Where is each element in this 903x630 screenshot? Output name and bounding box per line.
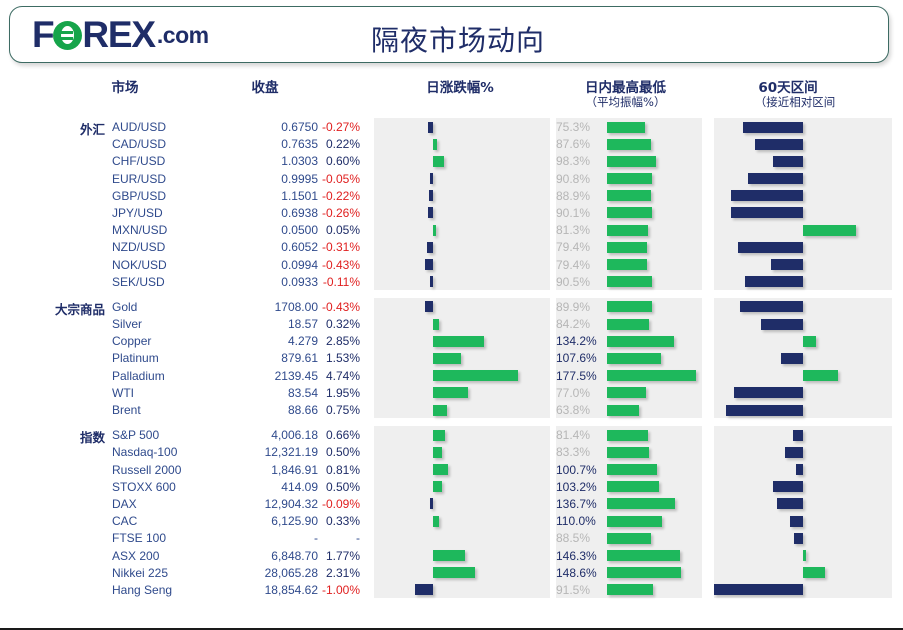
daily-change-percent: 2.85% — [300, 334, 360, 348]
daily-change-percent: -0.43% — [300, 300, 360, 314]
table-row: ASX 2006,848.701.77%146.3% — [0, 547, 903, 564]
intraday-range-bar — [607, 225, 648, 236]
instrument-name: ASX 200 — [112, 549, 159, 563]
intraday-range-percent: 77.0% — [556, 386, 603, 400]
daily-change-bar — [433, 567, 475, 578]
intraday-range-percent: 83.3% — [556, 445, 603, 459]
column-headers: 市场 收盘 日涨跌幅% 日内最高最低 （平均振幅%） 60天区间 （接近相对区间 — [0, 70, 903, 118]
intraday-range-bar — [607, 430, 648, 441]
column-header-market: 市场 — [80, 76, 170, 96]
intraday-range-bar — [607, 190, 651, 201]
intraday-range-bar — [607, 447, 649, 458]
daily-change-percent: 0.50% — [300, 445, 360, 459]
table-row: 外汇AUD/USD0.6750-0.27%75.3% — [0, 118, 903, 135]
intraday-range-bar — [607, 387, 646, 398]
table-row: STOXX 600414.090.50%103.2% — [0, 478, 903, 495]
daily-change-percent: -0.26% — [300, 206, 360, 220]
intraday-range-percent: 90.5% — [556, 275, 603, 289]
intraday-range-bar — [607, 139, 651, 150]
instrument-name: AUD/USD — [112, 120, 166, 134]
intraday-range-percent: 148.6% — [556, 566, 603, 580]
range60-bar — [785, 447, 803, 458]
range60-bar — [796, 464, 803, 475]
daily-change-percent: -0.31% — [300, 240, 360, 254]
market-table: 外汇AUD/USD0.6750-0.27%75.3%CAD/USD0.76350… — [0, 118, 903, 630]
intraday-range-bar — [607, 464, 657, 475]
daily-change-bar — [433, 139, 437, 150]
daily-change-bar — [433, 550, 465, 561]
intraday-range-bar — [607, 353, 661, 364]
daily-change-percent: 0.60% — [300, 154, 360, 168]
daily-change-percent: 0.50% — [300, 480, 360, 494]
range60-bar — [803, 225, 856, 236]
daily-change-bar — [433, 336, 484, 347]
column-header-range60-sub: （接近相对区间 — [705, 94, 885, 110]
range60-bar — [738, 242, 803, 253]
daily-change-percent: 4.74% — [300, 369, 360, 383]
instrument-name: Nikkei 225 — [112, 566, 168, 580]
range60-bar — [745, 276, 803, 287]
euro-circle-icon — [53, 21, 82, 50]
range60-bar — [755, 139, 803, 150]
range60-bar — [793, 430, 803, 441]
table-row: Palladium2139.454.74%177.5% — [0, 367, 903, 384]
table-row: Copper4.2792.85%134.2% — [0, 332, 903, 349]
intraday-range-percent: 87.6% — [556, 137, 603, 151]
intraday-range-percent: 81.3% — [556, 223, 603, 237]
range60-bar — [743, 122, 803, 133]
intraday-range-bar — [607, 516, 662, 527]
daily-change-bar — [429, 190, 433, 201]
daily-change-bar — [433, 319, 439, 330]
intraday-range-bar — [607, 156, 656, 167]
table-row: Silver18.570.32%84.2% — [0, 315, 903, 332]
daily-change-bar — [433, 225, 436, 236]
instrument-name: Silver — [112, 317, 142, 331]
instrument-name: NOK/USD — [112, 258, 167, 272]
daily-change-percent: -0.43% — [300, 258, 360, 272]
range60-bar — [790, 516, 803, 527]
table-row: NOK/USD0.0994-0.43%79.4% — [0, 256, 903, 273]
daily-change-percent: 2.31% — [300, 566, 360, 580]
intraday-range-bar — [607, 319, 649, 330]
daily-change-bar — [430, 173, 433, 184]
daily-change-percent: - — [300, 531, 360, 545]
intraday-range-percent: 177.5% — [556, 369, 603, 383]
daily-change-percent: 0.05% — [300, 223, 360, 237]
intraday-range-percent: 136.7% — [556, 497, 603, 511]
intraday-range-bar — [607, 370, 696, 381]
daily-change-bar — [425, 301, 433, 312]
range60-bar — [794, 533, 803, 544]
intraday-range-bar — [607, 533, 651, 544]
instrument-name: NZD/USD — [112, 240, 165, 254]
daily-change-percent: -0.27% — [300, 120, 360, 134]
daily-change-percent: 0.81% — [300, 463, 360, 477]
intraday-range-percent: 98.3% — [556, 154, 603, 168]
range60-bar — [803, 567, 825, 578]
daily-change-percent: -0.22% — [300, 189, 360, 203]
column-header-close: 收盘 — [215, 76, 315, 96]
intraday-range-bar — [607, 173, 652, 184]
daily-change-bar — [433, 430, 445, 441]
intraday-range-bar — [607, 481, 659, 492]
intraday-range-bar — [607, 122, 645, 133]
daily-change-percent: 0.33% — [300, 514, 360, 528]
range60-bar — [714, 584, 803, 595]
intraday-range-bar — [607, 276, 652, 287]
table-row: 指数S&P 5004,006.180.66%81.4% — [0, 426, 903, 443]
table-row: SEK/USD0.0933-0.11%90.5% — [0, 273, 903, 290]
daily-change-percent: 1.53% — [300, 351, 360, 365]
range60-bar — [731, 190, 803, 201]
intraday-range-percent: 84.2% — [556, 317, 603, 331]
daily-change-percent: 0.75% — [300, 403, 360, 417]
table-row: JPY/USD0.6938-0.26%90.1% — [0, 204, 903, 221]
instrument-name: FTSE 100 — [112, 531, 166, 545]
table-row: CAD/USD0.76350.22%87.6% — [0, 135, 903, 152]
range60-bar — [761, 319, 803, 330]
intraday-range-percent: 134.2% — [556, 334, 603, 348]
daily-change-percent: -1.00% — [300, 583, 360, 597]
intraday-range-bar — [607, 498, 675, 509]
intraday-range-percent: 146.3% — [556, 549, 603, 563]
range60-bar — [781, 353, 803, 364]
table-row: Platinum879.611.53%107.6% — [0, 349, 903, 366]
daily-change-percent: 1.77% — [300, 549, 360, 563]
intraday-range-percent: 88.5% — [556, 531, 603, 545]
instrument-name: CAD/USD — [112, 137, 166, 151]
daily-change-bar — [433, 156, 444, 167]
daily-change-bar — [433, 387, 468, 398]
daily-change-bar — [425, 259, 433, 270]
table-row: Hang Seng18,854.62-1.00%91.5% — [0, 581, 903, 598]
instrument-name: WTI — [112, 386, 134, 400]
table-row: NZD/USD0.6052-0.31%79.4% — [0, 238, 903, 255]
table-row: MXN/USD0.05000.05%81.3% — [0, 221, 903, 238]
instrument-name: CHF/USD — [112, 154, 165, 168]
instrument-name: Nasdaq-100 — [112, 445, 177, 459]
instrument-name: Hang Seng — [112, 583, 172, 597]
intraday-range-bar — [607, 584, 653, 595]
header-card: F REX .com 隔夜市场动向 — [9, 6, 889, 63]
daily-change-bar — [428, 122, 433, 133]
market-section: 指数S&P 5004,006.180.66%81.4%Nasdaq-10012,… — [0, 426, 903, 598]
instrument-name: Copper — [112, 334, 151, 348]
market-section: 外汇AUD/USD0.6750-0.27%75.3%CAD/USD0.76350… — [0, 118, 903, 290]
table-row: Brent88.660.75%63.8% — [0, 401, 903, 418]
daily-change-bar — [415, 584, 433, 595]
intraday-range-percent: 89.9% — [556, 300, 603, 314]
table-row: EUR/USD0.9995-0.05%90.8% — [0, 170, 903, 187]
daily-change-bar — [430, 276, 433, 287]
logo-text-rex: REX — [82, 16, 154, 54]
range60-bar — [740, 301, 803, 312]
table-row: GBP/USD1.1501-0.22%88.9% — [0, 187, 903, 204]
range60-bar — [803, 336, 816, 347]
table-row: Russell 20001,846.910.81%100.7% — [0, 461, 903, 478]
daily-change-percent: -0.11% — [300, 275, 360, 289]
range60-bar — [726, 405, 803, 416]
daily-change-percent: 0.66% — [300, 428, 360, 442]
instrument-name: STOXX 600 — [112, 480, 176, 494]
daily-change-bar — [430, 498, 433, 509]
instrument-name: GBP/USD — [112, 189, 166, 203]
daily-change-percent: 0.22% — [300, 137, 360, 151]
instrument-name: Palladium — [112, 369, 165, 383]
instrument-name: JPY/USD — [112, 206, 163, 220]
intraday-range-percent: 90.8% — [556, 172, 603, 186]
daily-change-percent: 1.95% — [300, 386, 360, 400]
daily-change-bar — [433, 353, 461, 364]
range60-bar — [803, 370, 838, 381]
column-header-change: 日涨跌幅% — [370, 76, 550, 96]
instrument-name: SEK/USD — [112, 275, 165, 289]
overnight-market-dashboard: F REX .com 隔夜市场动向 市场 收盘 日涨跌幅% 日内最高最低 （平均… — [0, 0, 903, 630]
instrument-name: Platinum — [112, 351, 159, 365]
intraday-range-bar — [607, 567, 681, 578]
table-row: CAC6,125.900.33%110.0% — [0, 512, 903, 529]
intraday-range-percent: 103.2% — [556, 480, 603, 494]
range60-bar — [803, 550, 806, 561]
intraday-range-bar — [607, 550, 680, 561]
intraday-range-percent: 91.5% — [556, 583, 603, 597]
daily-change-percent: -0.05% — [300, 172, 360, 186]
daily-change-percent: -0.09% — [300, 497, 360, 511]
instrument-name: S&P 500 — [112, 428, 159, 442]
daily-change-bar — [433, 370, 518, 381]
intraday-range-percent: 63.8% — [556, 403, 603, 417]
daily-change-bar — [433, 405, 447, 416]
table-row: Nikkei 22528,065.282.31%148.6% — [0, 564, 903, 581]
range60-bar — [731, 207, 803, 218]
page-title: 隔夜市场动向 — [371, 19, 545, 59]
logo-text-com: .com — [157, 16, 209, 54]
table-row: CHF/USD1.03030.60%98.3% — [0, 152, 903, 169]
range60-bar — [773, 156, 803, 167]
daily-change-bar — [428, 207, 433, 218]
range60-bar — [777, 498, 803, 509]
logo-text-f: F — [32, 16, 53, 54]
intraday-range-bar — [607, 336, 674, 347]
column-header-range60: 60天区间 — [708, 76, 868, 96]
instrument-name: Russell 2000 — [112, 463, 181, 477]
forex-com-logo: F REX .com — [32, 16, 209, 54]
intraday-range-percent: 81.4% — [556, 428, 603, 442]
daily-change-bar — [433, 464, 448, 475]
daily-change-bar — [433, 481, 442, 492]
instrument-name: EUR/USD — [112, 172, 166, 186]
instrument-name: CAC — [112, 514, 137, 528]
intraday-range-percent: 110.0% — [556, 514, 603, 528]
intraday-range-percent: 79.4% — [556, 258, 603, 272]
table-row: WTI83.541.95%77.0% — [0, 384, 903, 401]
intraday-range-percent: 79.4% — [556, 240, 603, 254]
intraday-range-percent: 75.3% — [556, 120, 603, 134]
daily-change-bar — [433, 516, 439, 527]
intraday-range-percent: 100.7% — [556, 463, 603, 477]
intraday-range-bar — [607, 242, 647, 253]
intraday-range-bar — [607, 301, 652, 312]
range60-bar — [748, 173, 803, 184]
intraday-range-bar — [607, 207, 652, 218]
column-header-intraday: 日内最高最低 — [548, 76, 703, 96]
table-row: DAX12,904.32-0.09%136.7% — [0, 495, 903, 512]
range60-bar — [773, 481, 803, 492]
intraday-range-bar — [607, 259, 647, 270]
intraday-range-bar — [607, 405, 639, 416]
instrument-name: MXN/USD — [112, 223, 167, 237]
instrument-name: Gold — [112, 300, 137, 314]
daily-change-bar — [433, 447, 442, 458]
instrument-name: DAX — [112, 497, 137, 511]
table-row: 大宗商品Gold1708.00-0.43%89.9% — [0, 298, 903, 315]
range60-bar — [734, 387, 803, 398]
daily-change-percent: 0.32% — [300, 317, 360, 331]
table-row: Nasdaq-10012,321.190.50%83.3% — [0, 443, 903, 460]
column-header-intraday-sub: （平均振幅%） — [548, 94, 703, 110]
range60-bar — [771, 259, 803, 270]
intraday-range-percent: 90.1% — [556, 206, 603, 220]
daily-change-bar — [427, 242, 433, 253]
intraday-range-percent: 88.9% — [556, 189, 603, 203]
market-section: 大宗商品Gold1708.00-0.43%89.9%Silver18.570.3… — [0, 298, 903, 418]
intraday-range-percent: 107.6% — [556, 351, 603, 365]
table-row: FTSE 100--88.5% — [0, 529, 903, 546]
instrument-name: Brent — [112, 403, 141, 417]
